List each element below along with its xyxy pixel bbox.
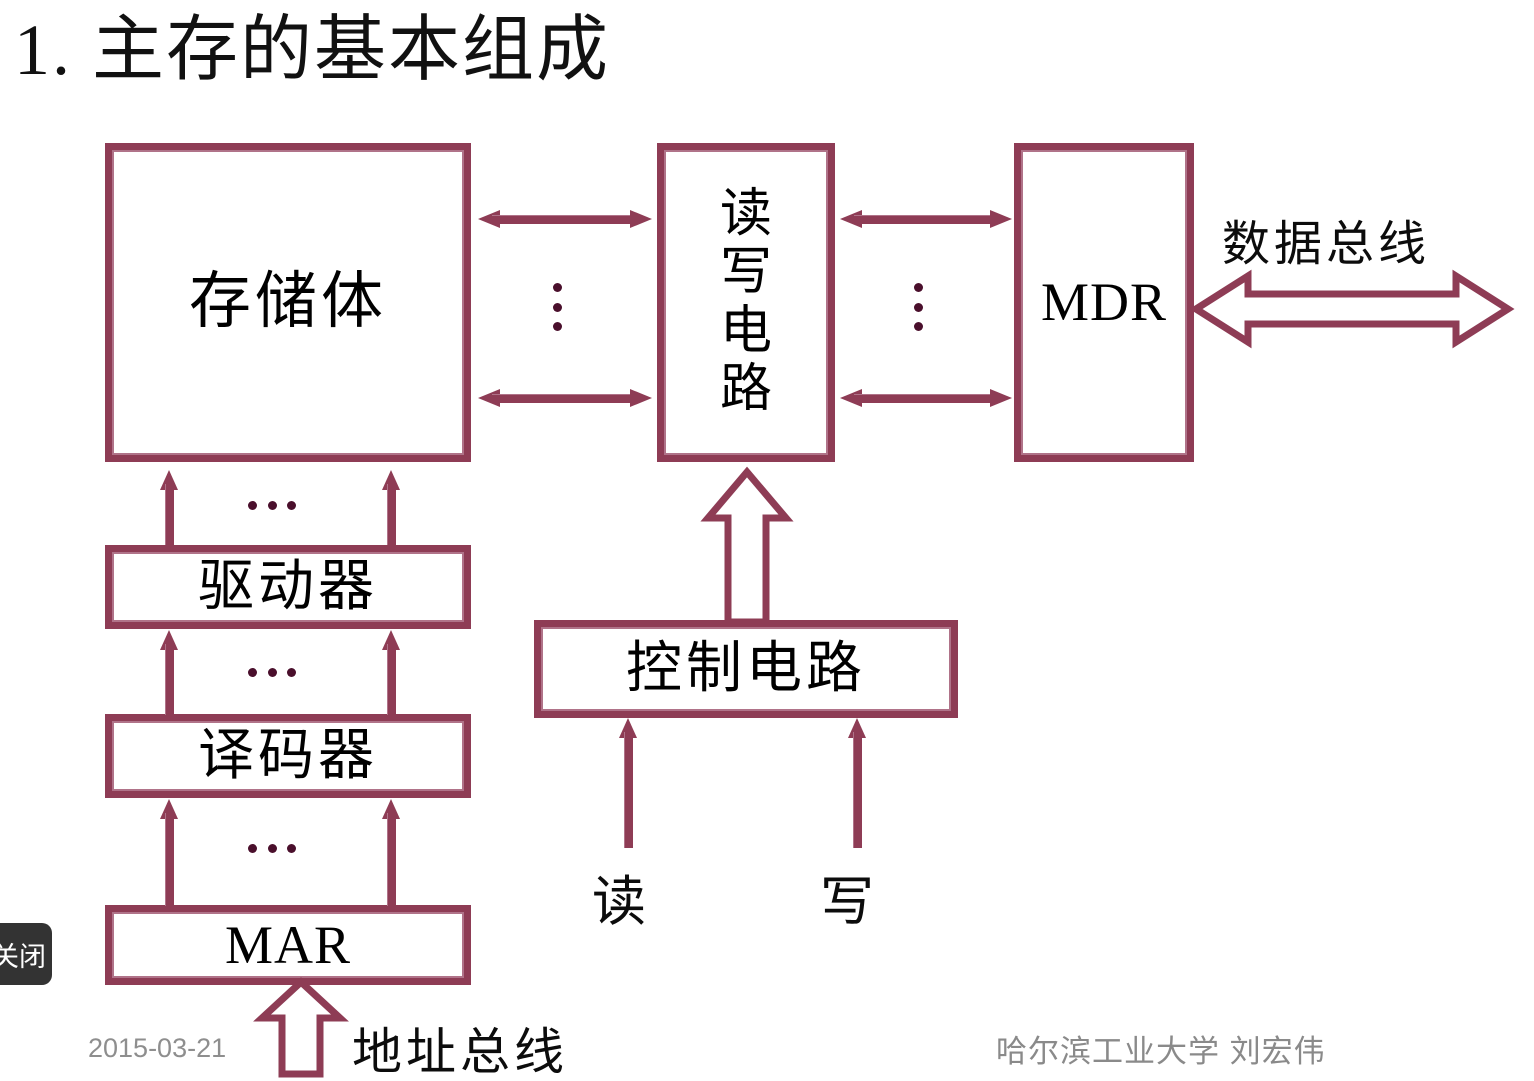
- arrow-mar-decoder-right: [382, 799, 400, 906]
- slide-canvas: 1. 主存的基本组成 存储体 读 写 电 路 MDR 驱动器 译码器 MAR 控…: [0, 0, 1534, 1081]
- arrow-decoder-driver-left: [160, 630, 178, 715]
- ellipsis-dot: [287, 501, 296, 510]
- arrow-head-right-icon: [630, 389, 652, 407]
- arrow-driver-storage-right: [382, 470, 400, 545]
- label-read: 读: [592, 857, 650, 936]
- box-decoder-label: 译码器: [198, 727, 378, 786]
- arrow-write-to-control: [848, 718, 866, 848]
- ellipsis-storage-rw: [552, 283, 562, 331]
- arrow-decoder-driver-right: [382, 630, 400, 715]
- arrow-shaft: [624, 732, 633, 848]
- ellipsis-dot: [268, 844, 277, 853]
- ellipsis-dot: [914, 322, 923, 331]
- arrow-data-bus: [1192, 268, 1512, 350]
- box-read-write-circuit-label: 读 写 电 路: [720, 186, 772, 419]
- arrow-rw-mdr-bottom: [840, 389, 1012, 407]
- ellipsis-driver-storage: [248, 500, 296, 510]
- close-button-label: 关闭: [0, 935, 46, 974]
- arrow-mar-decoder-left: [160, 799, 178, 906]
- ellipsis-dot: [914, 283, 923, 292]
- arrow-head-right-icon: [630, 210, 652, 228]
- arrow-read-to-control: [619, 718, 637, 848]
- label-address-bus: 地址总线: [352, 1012, 568, 1081]
- box-read-write-circuit: 读 写 电 路: [657, 143, 835, 462]
- label-write: 写: [820, 857, 878, 936]
- arrow-head-right-icon: [990, 389, 1012, 407]
- arrow-shaft: [387, 484, 396, 545]
- box-driver: 驱动器: [105, 545, 471, 629]
- arrow-address-bus: [258, 978, 344, 1078]
- arrow-driver-storage-left: [160, 470, 178, 545]
- box-control-circuit-label: 控制电路: [626, 640, 866, 699]
- page-title: 1. 主存的基本组成: [14, 14, 610, 86]
- ellipsis-mar-decoder: [248, 843, 296, 853]
- ellipsis-rw-mdr: [913, 283, 923, 331]
- close-button[interactable]: 关闭: [0, 923, 52, 985]
- arrow-shaft: [387, 644, 396, 715]
- box-mdr: MDR: [1014, 143, 1194, 462]
- ellipsis-dot: [268, 668, 277, 677]
- ellipsis-dot: [553, 322, 562, 331]
- ellipsis-dot: [553, 303, 562, 312]
- arrow-storage-rw-top: [478, 210, 652, 228]
- footer-date: 2015-03-21: [88, 1033, 226, 1064]
- box-mar-label: MAR: [225, 917, 351, 974]
- ellipsis-dot: [914, 303, 923, 312]
- box-storage-label: 存储体: [189, 270, 387, 335]
- arrow-control-to-rw: [704, 468, 790, 626]
- arrow-shaft: [165, 813, 174, 906]
- box-mar: MAR: [105, 905, 471, 985]
- ellipsis-dot: [248, 844, 257, 853]
- arrow-shaft: [387, 813, 396, 906]
- box-mdr-label: MDR: [1041, 274, 1167, 331]
- arrow-storage-rw-bottom: [478, 389, 652, 407]
- ellipsis-decoder-driver: [248, 667, 296, 677]
- ellipsis-dot: [287, 844, 296, 853]
- box-control-circuit: 控制电路: [534, 620, 958, 718]
- arrow-shaft: [165, 644, 174, 715]
- ellipsis-dot: [248, 501, 257, 510]
- footer-author: 哈尔滨工业大学 刘宏伟: [996, 1026, 1326, 1071]
- arrow-shaft: [854, 394, 998, 403]
- ellipsis-dot: [553, 283, 562, 292]
- arrow-shaft: [853, 732, 862, 848]
- ellipsis-dot: [268, 501, 277, 510]
- arrow-shaft: [854, 215, 998, 224]
- arrow-shaft: [492, 215, 638, 224]
- label-data-bus: 数据总线: [1222, 204, 1430, 274]
- box-driver-label: 驱动器: [198, 558, 378, 617]
- arrow-head-right-icon: [990, 210, 1012, 228]
- box-decoder: 译码器: [105, 714, 471, 798]
- ellipsis-dot: [248, 668, 257, 677]
- arrow-rw-mdr-top: [840, 210, 1012, 228]
- box-storage-body: 存储体: [105, 143, 471, 462]
- ellipsis-dot: [287, 668, 296, 677]
- arrow-shaft: [165, 484, 174, 545]
- arrow-shaft: [492, 394, 638, 403]
